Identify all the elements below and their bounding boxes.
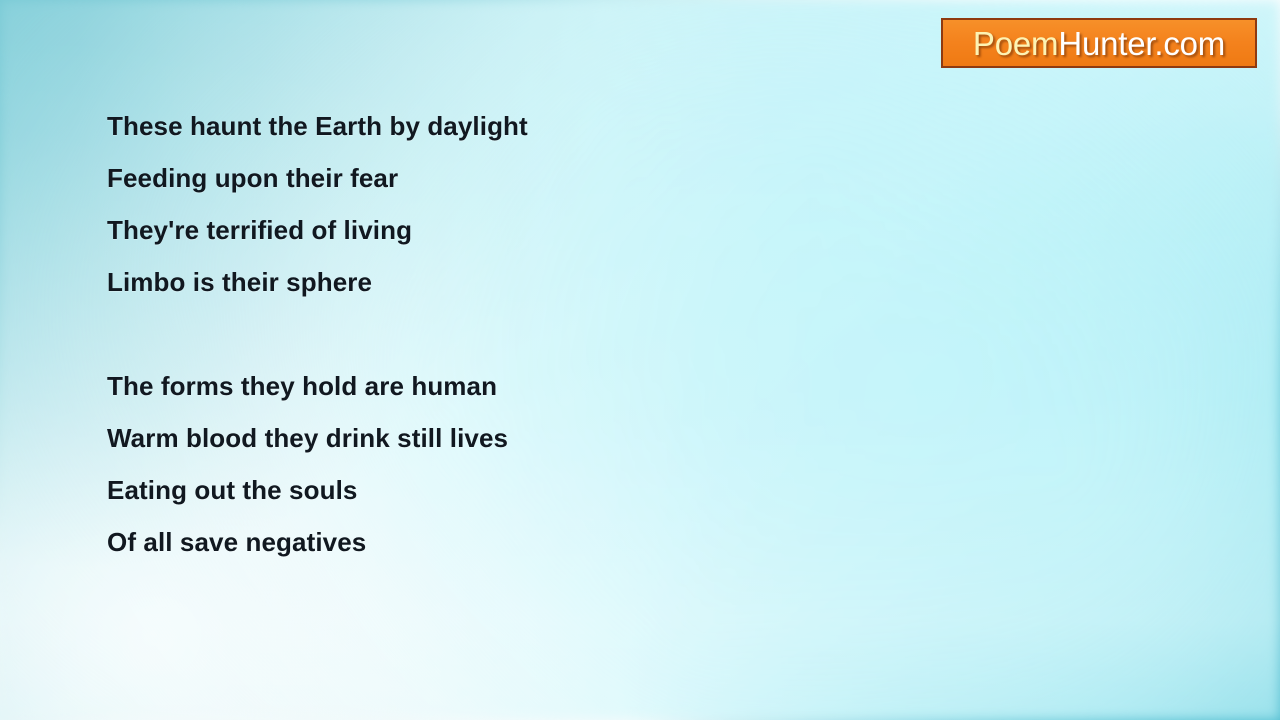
poem-line: These haunt the Earth by daylight [107, 100, 867, 152]
poem-line: The forms they hold are human [107, 360, 867, 412]
poem-stanza-break [107, 308, 867, 360]
logo-text-hunter: Hunter.com [1058, 25, 1225, 62]
poem-line: They're terrified of living [107, 204, 867, 256]
logo-wordmark: PoemHunter.com [973, 27, 1225, 60]
poem-body: These haunt the Earth by daylight Feedin… [107, 100, 867, 568]
poem-line: Of all save negatives [107, 516, 867, 568]
poemhunter-logo[interactable]: PoemHunter.com [941, 18, 1257, 68]
logo-text-poem: Poem [973, 25, 1058, 62]
poem-line: Feeding upon their fear [107, 152, 867, 204]
poem-card: PoemHunter.com These haunt the Earth by … [0, 0, 1280, 720]
poem-line: Limbo is their sphere [107, 256, 867, 308]
poem-line: Eating out the souls [107, 464, 867, 516]
poem-line: Warm blood they drink still lives [107, 412, 867, 464]
